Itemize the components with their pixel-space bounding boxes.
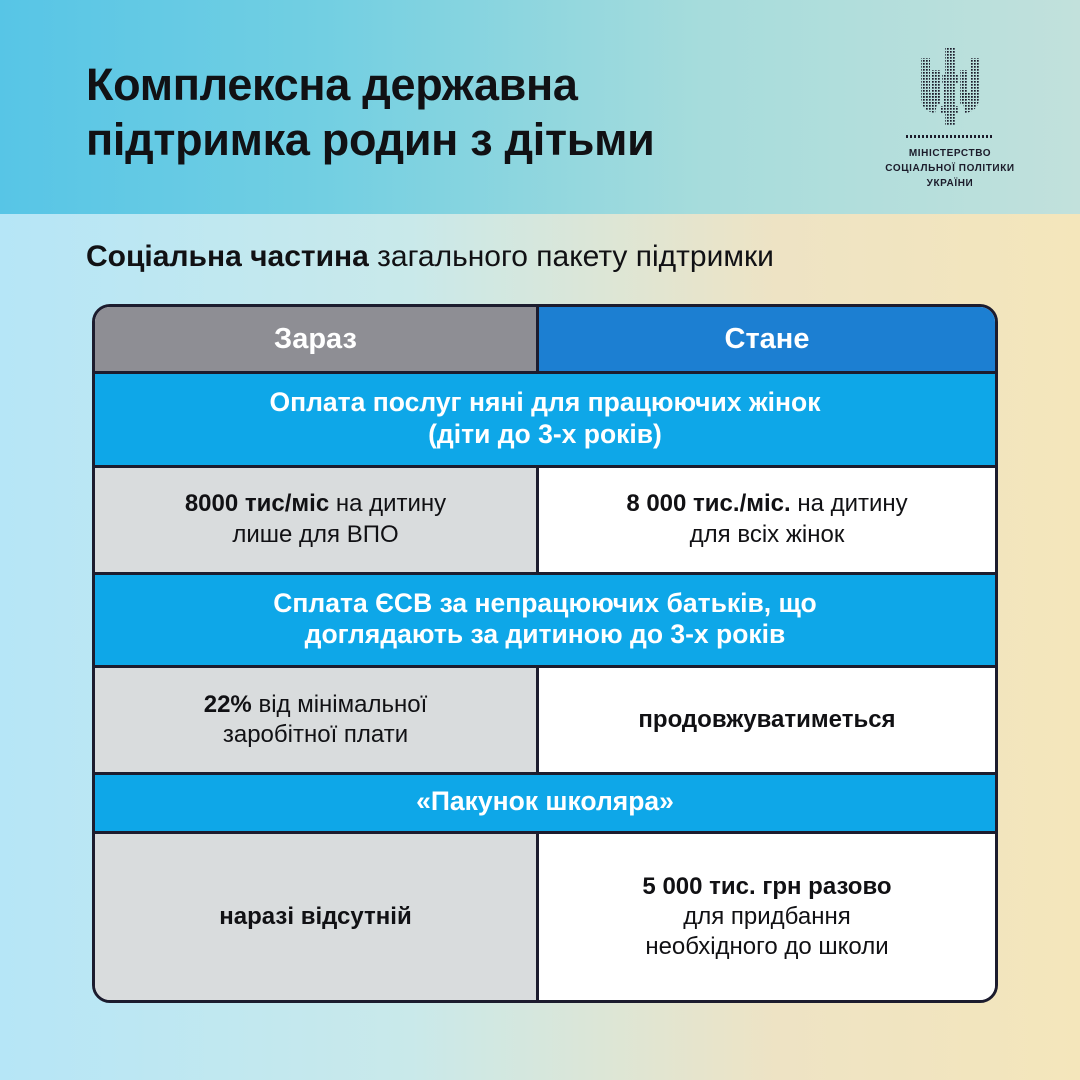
cell-now-esv-reg-1: від мінімальної [252, 691, 427, 718]
cell-will-school-package-bold: 5 000 тис. грн разово [642, 873, 891, 900]
section-heading-nanny-line-1: Оплата послуг няні для працюючих жінок [115, 387, 975, 419]
cell-now-esv: 22% від мінімальної заробітної плати [95, 668, 539, 772]
comparison-table: Зараз Стане Оплата послуг няні для працю… [92, 304, 998, 1003]
cell-now-nanny-bold: 8000 тис/міс [185, 490, 329, 517]
subtitle-bold: Соціальна частина [86, 240, 369, 273]
cell-will-nanny-reg-2: для всіх жінок [626, 520, 907, 550]
ministry-logo: МІНІСТЕРСТВО СОЦІАЛЬНОЇ ПОЛІТИКИ УКРАЇНИ [876, 48, 1024, 191]
logo-divider [906, 135, 994, 138]
ministry-logo-text-line-2: СОЦІАЛЬНОЇ ПОЛІТИКИ [876, 161, 1024, 176]
table-header-row: Зараз Стане [95, 307, 995, 374]
cell-now-esv-reg-2: заробітної плати [204, 720, 428, 750]
subtitle-regular: загального пакету підтримки [369, 240, 774, 273]
section-heading-nanny-line-2: (діти до 3-х років) [115, 419, 975, 451]
cell-now-nanny: 8000 тис/міс на дитину лише для ВПО [95, 468, 539, 572]
section-heading-nanny: Оплата послуг няні для працюючих жінок (… [95, 374, 995, 468]
section-heading-esv-line-1: Сплата ЄСВ за непрацюючих батьків, що [115, 588, 975, 620]
ministry-logo-text-line-3: УКРАЇНИ [876, 176, 1024, 191]
cell-now-esv-bold: 22% [204, 691, 252, 718]
ukraine-trident-emblem-icon [876, 48, 1024, 130]
column-header-will: Стане [539, 307, 995, 371]
subtitle: Соціальна частина загального пакету підт… [86, 240, 774, 274]
cell-will-nanny: 8 000 тис./міс. на дитину для всіх жінок [539, 468, 995, 572]
cell-will-school-package-reg-1: для придбання [642, 902, 891, 932]
cell-now-nanny-reg-2: лише для ВПО [185, 520, 446, 550]
page-title: Комплексна державна підтримка родин з ді… [86, 58, 846, 168]
table-row: 8000 тис/міс на дитину лише для ВПО 8 00… [95, 468, 995, 575]
section-heading-esv-line-2: доглядають за дитиною до 3-х років [115, 619, 975, 651]
cell-now-school-package-bold: наразі відсутній [219, 902, 411, 932]
ministry-logo-text-line-1: МІНІСТЕРСТВО [876, 146, 1024, 161]
page-title-line-2: підтримка родин з дітьми [86, 113, 846, 168]
cell-will-school-package-reg-2: необхідного до школи [642, 932, 891, 962]
cell-now-school-package: наразі відсутній [95, 834, 539, 1000]
page-title-line-1: Комплексна державна [86, 58, 846, 113]
section-heading-school-package: «Пакунок школяра» [95, 775, 995, 834]
ministry-logo-text: МІНІСТЕРСТВО СОЦІАЛЬНОЇ ПОЛІТИКИ УКРАЇНИ [876, 146, 1024, 191]
cell-will-nanny-bold: 8 000 тис./міс. [626, 490, 790, 517]
cell-now-nanny-reg-1: на дитину [329, 490, 446, 517]
section-heading-esv: Сплата ЄСВ за непрацюючих батьків, що до… [95, 575, 995, 669]
header-band: Комплексна державна підтримка родин з ді… [0, 0, 1080, 214]
cell-will-esv-bold: продовжуватиметься [638, 705, 895, 735]
cell-will-esv: продовжуватиметься [539, 668, 995, 772]
cell-will-school-package: 5 000 тис. грн разово для придбання необ… [539, 834, 995, 1000]
table-row: 22% від мінімальної заробітної плати про… [95, 668, 995, 775]
table-row: наразі відсутній 5 000 тис. грн разово д… [95, 834, 995, 1000]
column-header-now: Зараз [95, 307, 539, 371]
cell-will-nanny-reg-1: на дитину [791, 490, 908, 517]
